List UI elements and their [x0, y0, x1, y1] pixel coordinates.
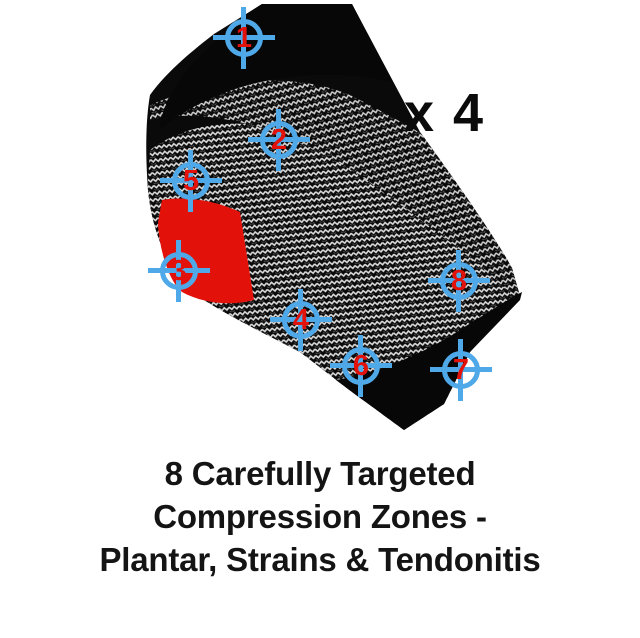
product-image: 1 2 5 3 4 8 6 7 [0, 0, 640, 638]
quantity-badge: x 4 [404, 86, 485, 140]
zone-marker-4[interactable]: 4 [270, 289, 332, 351]
zone-number-label: 5 [160, 150, 222, 212]
zone-number-label: 4 [270, 289, 332, 351]
zone-marker-1[interactable]: 1 [213, 7, 275, 69]
zone-number-label: 6 [330, 335, 392, 397]
compression-sock-illustration [0, 0, 640, 450]
zone-marker-8[interactable]: 8 [428, 250, 490, 312]
zone-number-label: 1 [213, 7, 275, 69]
zone-number-label: 7 [430, 339, 492, 401]
zone-marker-5[interactable]: 5 [160, 150, 222, 212]
zone-number-label: 8 [428, 250, 490, 312]
zone-number-label: 3 [148, 240, 210, 302]
zone-marker-3[interactable]: 3 [148, 240, 210, 302]
caption-line-3: Plantar, Strains & Tendonitis [0, 538, 640, 581]
caption-line-1: 8 Carefully Targeted [0, 452, 640, 495]
caption-line-2: Compression Zones - [0, 495, 640, 538]
product-caption: 8 Carefully Targeted Compression Zones -… [0, 452, 640, 581]
zone-marker-2[interactable]: 2 [248, 109, 310, 171]
zone-marker-7[interactable]: 7 [430, 339, 492, 401]
zone-marker-6[interactable]: 6 [330, 335, 392, 397]
zone-number-label: 2 [248, 109, 310, 171]
